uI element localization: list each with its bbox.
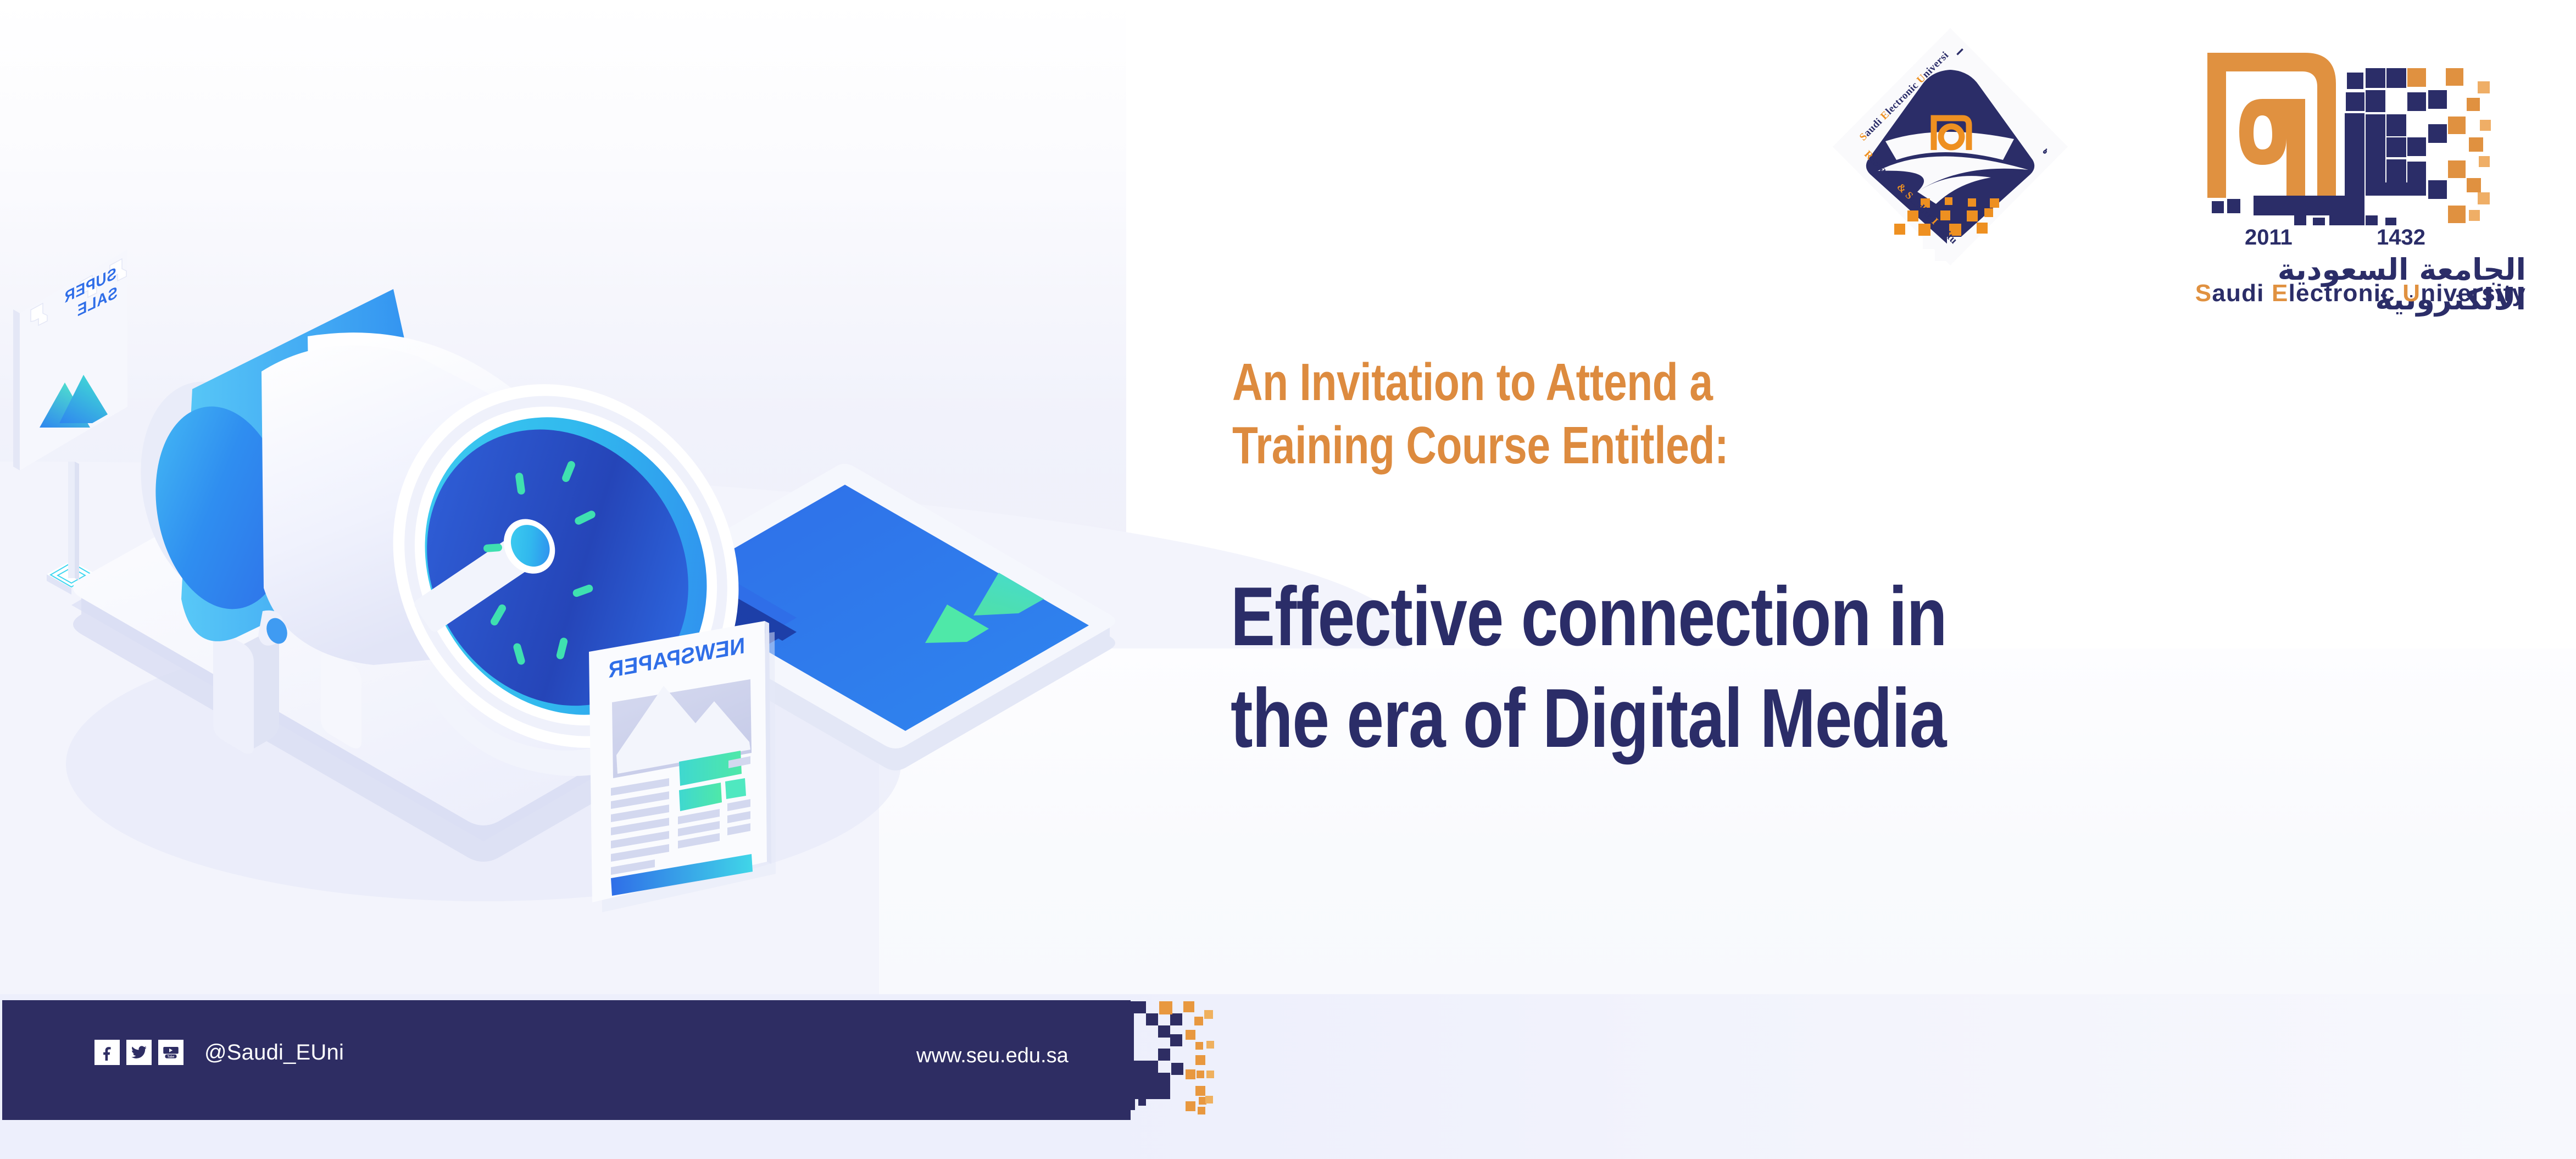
year-gregorian: 2011 bbox=[2245, 226, 2293, 248]
website-url[interactable]: www.seu.edu.sa bbox=[916, 1044, 1069, 1068]
kicker-line-1: An Invitation to Attend a bbox=[1232, 351, 2243, 414]
footer-pixel-decoration bbox=[1100, 984, 1243, 1132]
billboard-sign: SUPER SALE bbox=[13, 249, 127, 595]
twitter-icon[interactable] bbox=[126, 1040, 152, 1065]
kicker-line-2: Training Course Entitled: bbox=[1232, 414, 2243, 477]
page-title: Effective connection in the era of Digit… bbox=[1231, 566, 2549, 770]
youtube-icon[interactable]: Tube bbox=[158, 1040, 183, 1065]
saudi-electronic-university-logo: 2011 1432 الجامعة السعودية الالكترونية S… bbox=[2192, 33, 2527, 294]
background-bottom-fade bbox=[1099, 994, 2576, 1159]
banner-canvas: SUPER SALE bbox=[0, 0, 2576, 1159]
social-handle: @Saudi_EUni bbox=[204, 1041, 344, 1063]
title-line-1: Effective connection in bbox=[1231, 566, 2285, 668]
year-hijri: 1432 bbox=[2377, 226, 2425, 248]
megaphone-illustration: SUPER SALE bbox=[0, 181, 1126, 995]
research-and-studies-institute-logo: Saudi Electronic University الجامعة السع… bbox=[1829, 25, 2071, 269]
title-line-2: the era of Digital Media bbox=[1231, 668, 2285, 769]
social-links: Tube @Saudi_EUni bbox=[94, 1040, 344, 1065]
facebook-icon[interactable] bbox=[94, 1040, 120, 1065]
kicker-block: An Invitation to Attend a Training Cours… bbox=[1232, 351, 2496, 477]
newspaper: NEWSPAPER bbox=[589, 621, 776, 912]
seu-founding-years: 2011 1432 bbox=[2192, 226, 2489, 252]
seu-english-name: Saudi Electronic University bbox=[2192, 281, 2526, 306]
svg-text:Tube: Tube bbox=[168, 1055, 175, 1058]
